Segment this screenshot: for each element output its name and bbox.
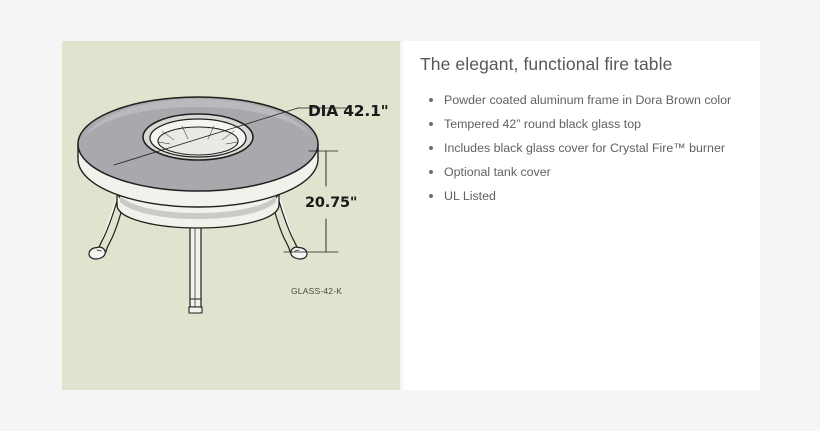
- product-diagram-panel: DIA 42.1" 20.75" GLASS-42-K: [62, 41, 400, 390]
- list-item: UL Listed: [427, 189, 757, 203]
- list-item: Tempered 42” round black glass top: [427, 117, 757, 131]
- table-top: [78, 97, 318, 207]
- product-spec-panel: The elegant, functional fire table Powde…: [403, 41, 760, 390]
- product-detail-page: DIA 42.1" 20.75" GLASS-42-K The elegant,…: [0, 0, 820, 431]
- bullet-icon: [429, 194, 433, 198]
- list-item: Includes black glass cover for Crystal F…: [427, 141, 757, 155]
- list-item: Powder coated aluminum frame in Dora Bro…: [427, 93, 757, 107]
- bullet-icon: [429, 122, 433, 126]
- feature-text: Powder coated aluminum frame in Dora Bro…: [444, 93, 731, 107]
- diameter-dimension-label: DIA 42.1": [308, 102, 389, 120]
- spec-heading: The elegant, functional fire table: [420, 54, 672, 75]
- feature-text: UL Listed: [444, 189, 496, 203]
- bullet-icon: [429, 98, 433, 102]
- bullet-icon: [429, 146, 433, 150]
- feature-text: Includes black glass cover for Crystal F…: [444, 141, 725, 155]
- fire-table-line-drawing: [62, 41, 400, 390]
- height-dimension-label: 20.75": [305, 195, 357, 211]
- feature-list: Powder coated aluminum frame in Dora Bro…: [427, 93, 757, 213]
- feature-text: Optional tank cover: [444, 165, 551, 179]
- feature-text: Tempered 42” round black glass top: [444, 117, 641, 131]
- bullet-icon: [429, 170, 433, 174]
- model-number-label: GLASS-42-K: [291, 286, 342, 296]
- list-item: Optional tank cover: [427, 165, 757, 179]
